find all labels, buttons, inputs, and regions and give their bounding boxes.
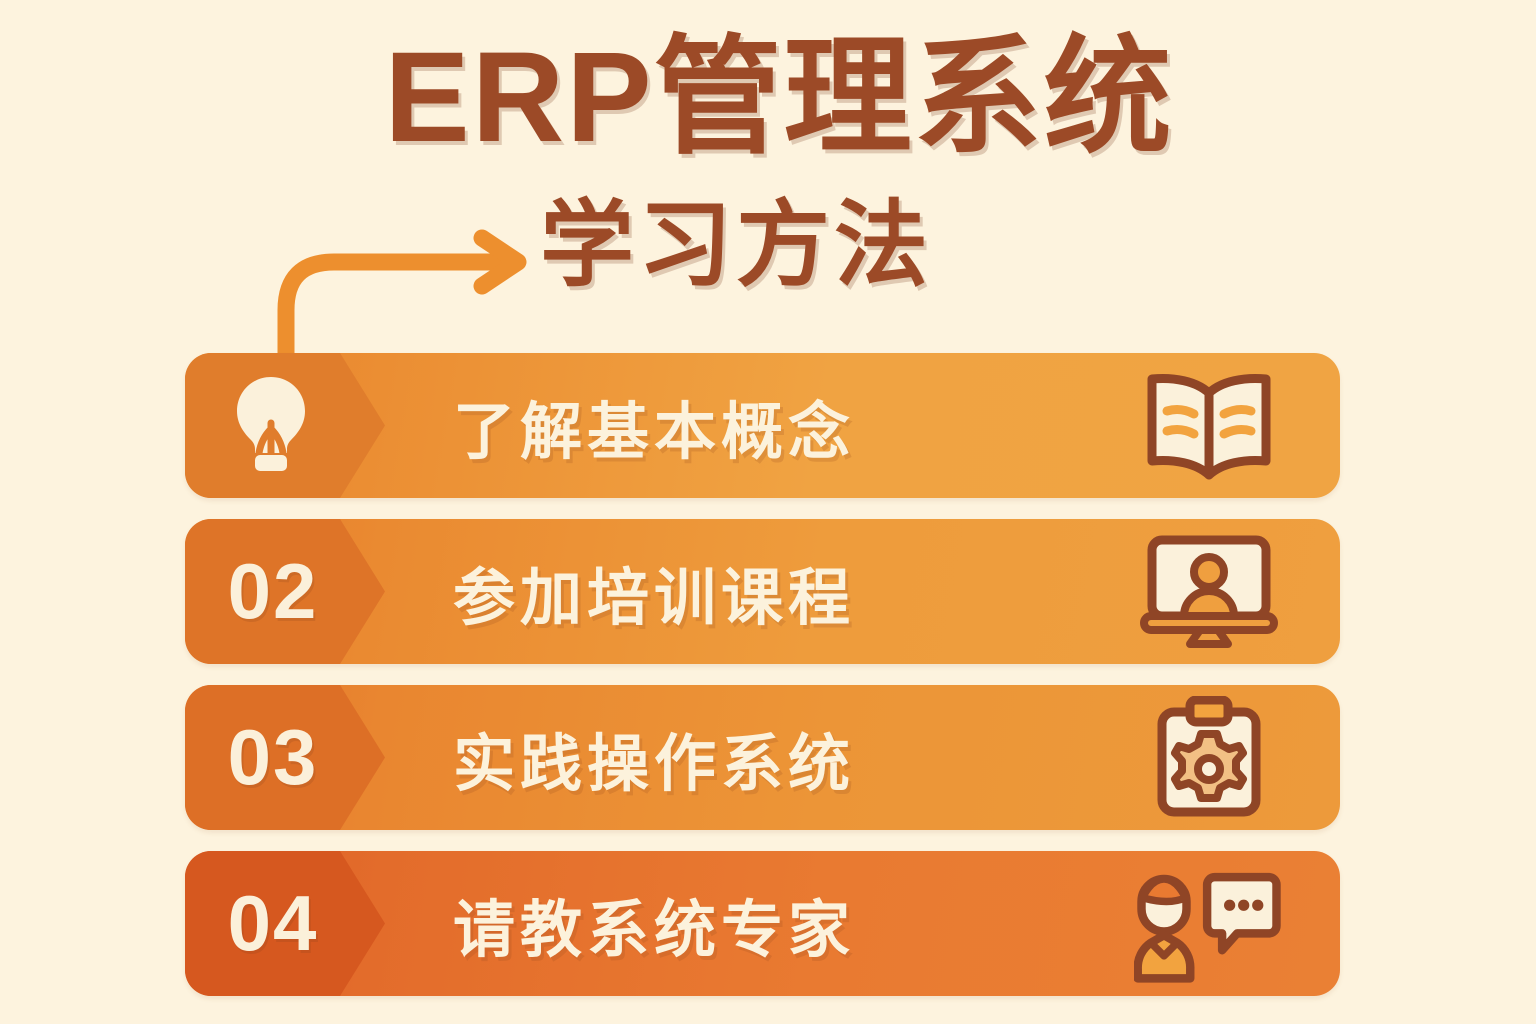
step-number: 03 — [228, 712, 319, 803]
list-item[interactable]: 03 实践操作系统 — [185, 685, 1340, 830]
page-title: ERP管理系统 — [362, 26, 1173, 169]
step-label: 了解基本概念 — [453, 353, 855, 498]
open-book-icon — [1134, 367, 1284, 485]
step-label: 实践操作系统 — [453, 685, 855, 830]
step-number: 04 — [228, 878, 319, 969]
list-item[interactable]: 02 参加培训课程 — [185, 519, 1340, 664]
monitor-person-icon — [1134, 533, 1284, 651]
list-item[interactable]: 了解基本概念 — [185, 353, 1340, 498]
list-item[interactable]: 04 请教系统专家 — [185, 851, 1340, 996]
steps-list: 了解基本概念 02 参加培训课程 — [185, 353, 1340, 1017]
infographic-canvas: ERP管理系统 学习方法 了解基本概念 — [0, 0, 1536, 1024]
page-subtitle: 学习方法 — [540, 196, 932, 295]
step-number: 02 — [228, 546, 319, 637]
lightbulb-icon — [228, 371, 314, 480]
header-block: ERP管理系统 — [0, 26, 1536, 169]
person-speech-bubble-icon — [1134, 865, 1284, 983]
clipboard-gear-icon — [1134, 699, 1284, 817]
step-label: 参加培训课程 — [453, 519, 855, 664]
step-label: 请教系统专家 — [453, 851, 855, 996]
